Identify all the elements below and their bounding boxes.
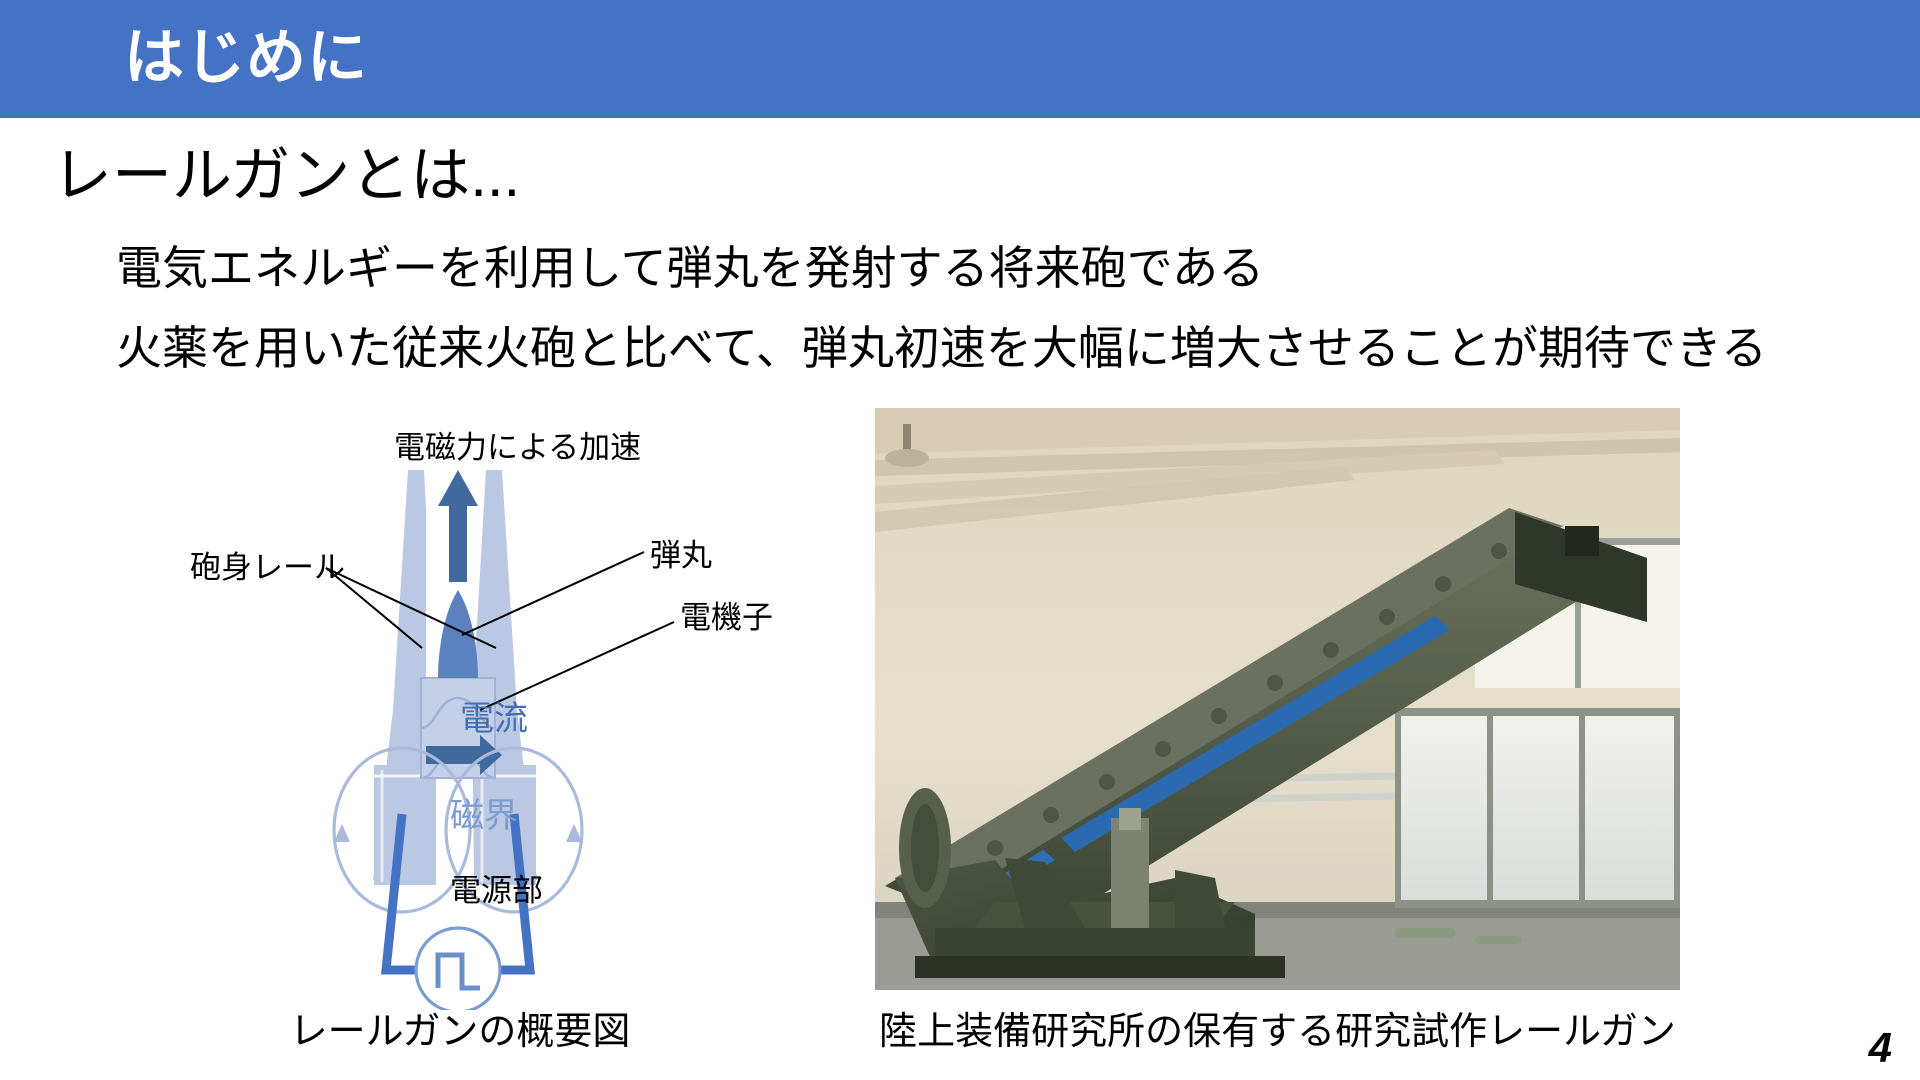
photo-base-plate — [915, 956, 1285, 978]
photo-caption: 陸上装備研究所の保有する研究試作レールガン — [875, 1000, 1680, 1055]
diagram-label-armature: 電機子 — [680, 600, 773, 636]
magnetic-field-left-arrowhead — [334, 824, 350, 842]
railgun-photo — [875, 408, 1680, 990]
diagram-label-barrel-rail: 砲身レール — [190, 550, 345, 586]
slide-title-bar: はじめに — [0, 0, 1920, 118]
magnetic-field-right-arrowhead — [566, 824, 582, 842]
photo-elevation-cylinder — [1111, 818, 1149, 928]
diagram-label-projectile: 弾丸 — [650, 538, 712, 574]
lead-heading: レールガンとは... — [52, 140, 520, 212]
diagram-label-power-supply: 電源部 — [450, 873, 543, 909]
bullet-line-2: 火薬を用いた従来火砲と比べて、弾丸初速を大幅に増大させることが期待できる — [116, 320, 1767, 376]
diagram-caption: レールガンの概要図 — [150, 1000, 770, 1055]
power-source-circle — [416, 928, 500, 1010]
railgun-photo-svg — [875, 408, 1680, 990]
slide-title: はじめに — [124, 16, 368, 100]
railgun-schematic-diagram: 電磁力による加速 砲身レール 弾丸 電機子 電流 磁界 電源部 — [150, 410, 770, 1010]
diagram-label-acceleration: 電磁力による加速 — [394, 430, 641, 466]
diagram-label-current: 電流 — [460, 700, 528, 738]
bullet-line-1: 電気エネルギーを利用して弾丸を発射する将来砲である — [116, 240, 1264, 296]
diagram-label-magnetic-field: 磁界 — [450, 797, 518, 835]
page-number: 4 — [1869, 1024, 1892, 1072]
